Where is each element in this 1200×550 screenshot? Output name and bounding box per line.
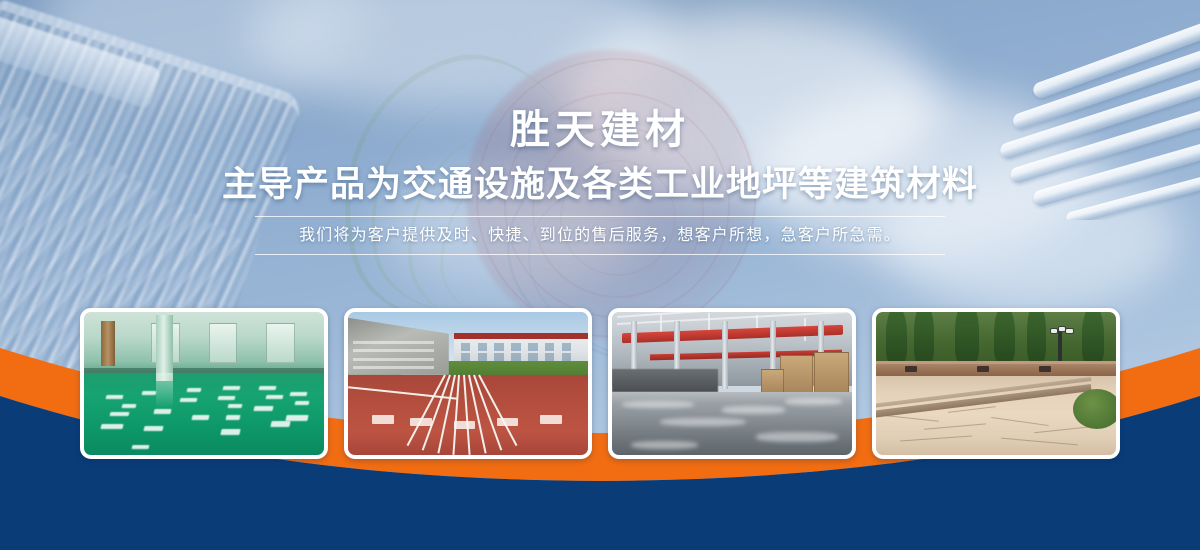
polished-concrete-factory-thumbnail[interactable]: [608, 308, 856, 459]
tagline-rule-box: 我们将为客户提供及时、快捷、到位的售后服务，想客户所想，急客户所急需。: [255, 216, 945, 255]
banner-headline: 主导产品为交通设施及各类工业地坪等建筑材料: [0, 167, 1200, 202]
stamped-concrete-plaza-thumbnail[interactable]: [872, 308, 1120, 459]
hero-banner: 胜天建材 主导产品为交通设施及各类工业地坪等建筑材料 我们将为客户提供及时、快捷…: [0, 0, 1200, 550]
banner-text-block: 胜天建材 主导产品为交通设施及各类工业地坪等建筑材料 我们将为客户提供及时、快捷…: [0, 110, 1200, 255]
banner-tagline: 我们将为客户提供及时、快捷、到位的售后服务，想客户所想，急客户所急需。: [255, 228, 945, 244]
company-title: 胜天建材: [0, 110, 1200, 150]
thumbnail-strip: [0, 308, 1200, 458]
green-epoxy-floor-thumbnail[interactable]: [80, 308, 328, 459]
running-track-thumbnail[interactable]: [344, 308, 592, 459]
